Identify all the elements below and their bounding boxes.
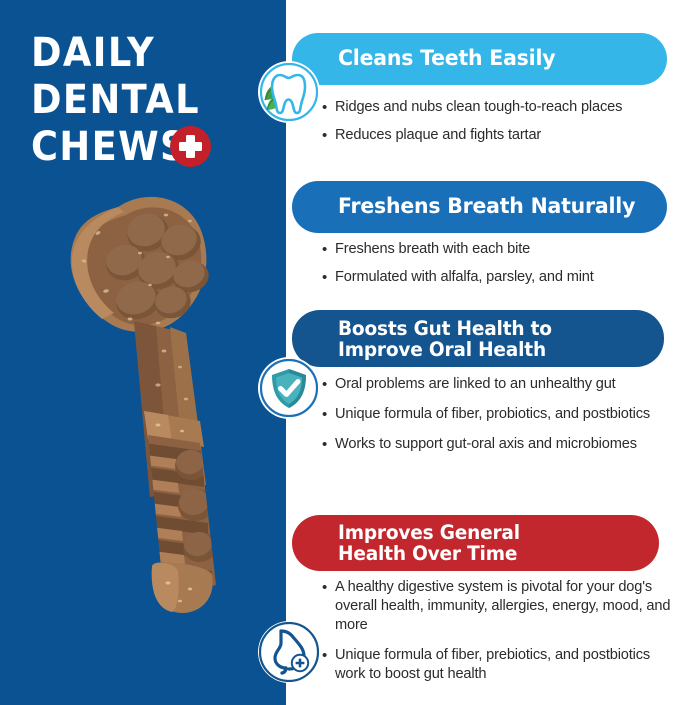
dog-dental-chew-icon (40, 185, 255, 685)
section-bullets: Freshens breath with each bite Formulate… (322, 240, 674, 296)
title-line-3: CHEWS (31, 124, 261, 171)
section-title: Freshens Breath Naturally (338, 196, 635, 218)
list-item: Formulated with alfalfa, parsley, and mi… (322, 268, 674, 287)
section-bullets: Ridges and nubs clean tough-to-reach pla… (322, 98, 674, 154)
list-item: A healthy digestive system is pivotal fo… (322, 578, 674, 635)
list-item: Unique formula of fiber, probiotics, and… (322, 405, 674, 424)
section-title: Cleans Teeth Easily (338, 48, 555, 70)
chew-bottom-cap (152, 562, 213, 613)
section-title-line-1: Boosts Gut Health to (338, 317, 552, 340)
plus-horizontal-bar (179, 142, 202, 151)
benefits-content: Cleans Teeth Easily Ridges and nubs clea… (286, 0, 679, 705)
stomach-plus-icon (258, 621, 320, 683)
medical-plus-icon (170, 126, 211, 167)
chew-head (71, 197, 213, 332)
title-line-1: DAILY (31, 30, 261, 77)
section-bullets: A healthy digestive system is pivotal fo… (322, 578, 674, 695)
list-item: Unique formula of fiber, prebiotics, and… (322, 646, 674, 684)
section-banner: Freshens Breath Naturally (292, 181, 667, 233)
tooth-with-mint-leaf-icon (258, 61, 320, 123)
section-title-line-1: Improves General (338, 521, 520, 544)
list-item: Reduces plaque and fights tartar (322, 126, 674, 145)
section-banner: Cleans Teeth Easily (292, 33, 667, 85)
section-title: Boosts Gut Health to Improve Oral Health (338, 318, 552, 360)
section-title: Improves General Health Over Time (338, 522, 520, 564)
shield-check-icon (258, 357, 320, 419)
section-title-line-2: Health Over Time (338, 543, 520, 564)
list-item: Freshens breath with each bite (322, 240, 674, 259)
section-banner: Boosts Gut Health to Improve Oral Health (292, 310, 664, 367)
section-bullets: Oral problems are linked to an unhealthy… (322, 375, 674, 465)
infographic-canvas: DAILY DENTAL CHEWS (0, 0, 679, 705)
section-banner: Improves General Health Over Time (292, 515, 659, 571)
page-title: DAILY DENTAL CHEWS (31, 30, 281, 171)
section-title-line-2: Improve Oral Health (338, 339, 552, 360)
list-item: Oral problems are linked to an unhealthy… (322, 375, 674, 394)
title-line-2: DENTAL (31, 77, 261, 124)
list-item: Works to support gut-oral axis and micro… (322, 435, 674, 454)
list-item: Ridges and nubs clean tough-to-reach pla… (322, 98, 674, 117)
